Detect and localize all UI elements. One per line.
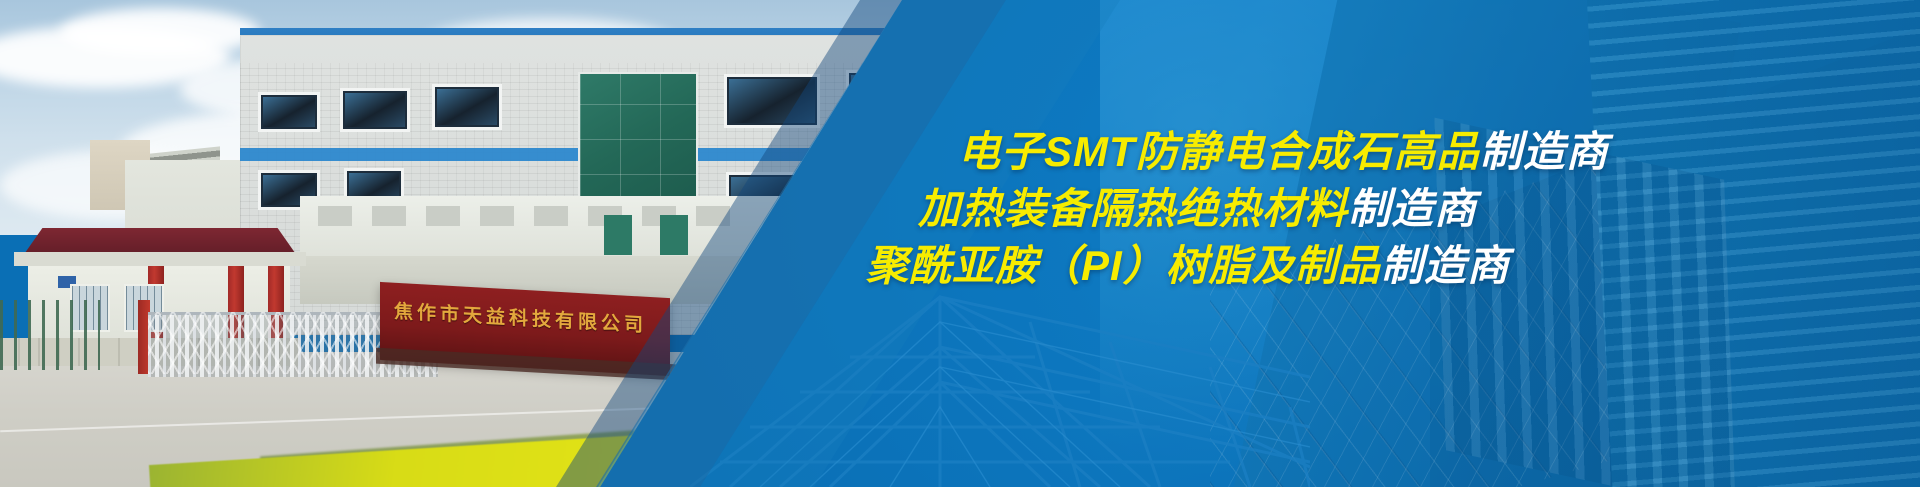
headline-group: 电子SMT防静电合成石高品制造商 加热装备隔热绝热材料制造商 聚酰亚胺（PI）树… xyxy=(0,0,1920,487)
headline-line-2-highlight: 加热装备隔热绝热材料 xyxy=(918,185,1348,232)
hero-banner: 焦作市天益科技有限公司 电子SMT防静电合成石高品制造商 加热装备隔热绝热材料制… xyxy=(0,0,1920,487)
headline-line-3-suffix: 制造商 xyxy=(1381,242,1510,289)
headline-line-3: 聚酰亚胺（PI）树脂及制品制造商 xyxy=(866,245,1510,287)
headline-line-2-suffix: 制造商 xyxy=(1348,185,1477,232)
headline-line-3-highlight: 聚酰亚胺（PI）树脂及制品 xyxy=(866,242,1381,289)
headline-line-1-highlight: 电子SMT防静电合成石高品 xyxy=(958,128,1480,175)
headline-line-2: 加热装备隔热绝热材料制造商 xyxy=(918,188,1477,230)
headline-line-1: 电子SMT防静电合成石高品制造商 xyxy=(958,131,1609,173)
headline-line-1-suffix: 制造商 xyxy=(1480,128,1609,175)
